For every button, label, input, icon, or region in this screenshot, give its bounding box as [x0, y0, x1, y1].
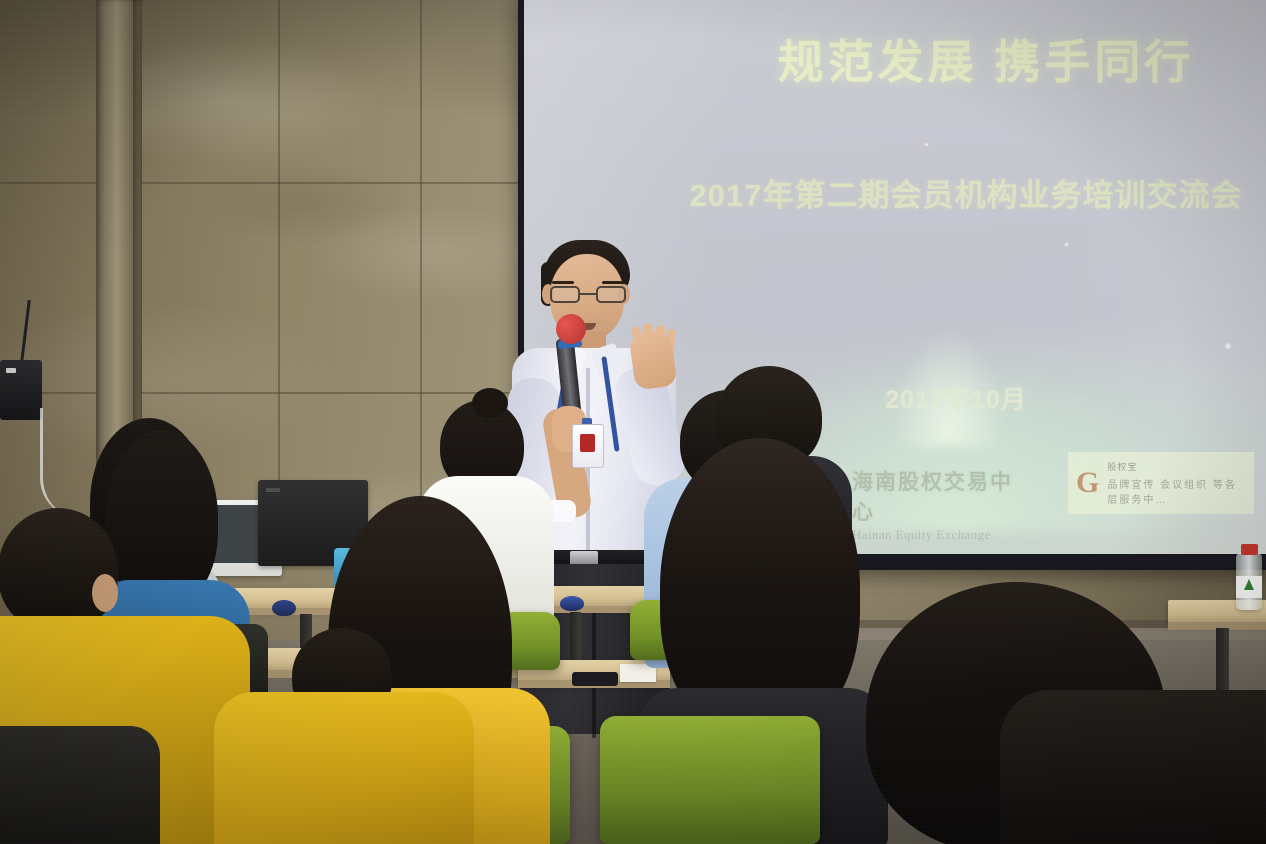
speaker-eyebrow-left: [552, 281, 574, 284]
attendee-hair-bun: [472, 388, 508, 418]
chair: [600, 716, 820, 844]
bottle-cap: [1241, 544, 1258, 555]
organizer-logo: 海南股权交易中心 Hainan Equity Exchange: [852, 466, 1022, 543]
phone: [572, 672, 618, 686]
slide-sparkle: [1064, 242, 1069, 247]
wall-tile-seam: [278, 0, 280, 560]
slide-sparkle: [1224, 342, 1232, 350]
glasses-icon: [550, 286, 626, 304]
glasses-lens-right: [596, 286, 626, 303]
device-led: [6, 368, 16, 373]
slide-title: 规范发展 携手同行: [524, 26, 1266, 92]
badge-emblem: [580, 434, 595, 452]
slide-sparkle: [924, 142, 929, 147]
glasses-bridge: [580, 293, 596, 295]
glasses-lens-left: [550, 286, 580, 303]
partner-logo-line1: 股权宝: [1107, 460, 1246, 473]
attendee-shoulder-right: [1000, 690, 1266, 844]
slide-subtitle: 2017年第二期会员机构业务培训交流会: [524, 170, 1266, 215]
partner-logo-text: 股权宝 品牌宣传 会议组织 等各层服务中…: [1107, 460, 1246, 506]
attendee-ear: [92, 574, 118, 612]
attendee-shirt: [214, 692, 474, 844]
speaker-eyebrow-right: [602, 281, 624, 284]
mouse: [560, 596, 584, 611]
organizer-logo-cn: 海南股权交易中心: [852, 466, 1022, 526]
laptop-logo: [266, 488, 280, 492]
attendee-hair: [0, 508, 118, 632]
photo-scene: 规范发展 携手同行 2017年第二期会员机构业务培训交流会 2017年10月 海…: [0, 0, 1266, 844]
partner-logo: G 股权宝 品牌宣传 会议组织 等各层服务中…: [1068, 452, 1254, 514]
organizer-logo-en: Hainan Equity Exchange: [852, 527, 1022, 543]
attendee-shoulder-left: [0, 726, 160, 844]
mouse: [272, 600, 296, 616]
bottle-label: [1236, 576, 1262, 598]
wall-tile-seam: [420, 0, 422, 560]
partner-logo-line2: 品牌宣传 会议组织 等各层服务中…: [1107, 476, 1246, 506]
partner-logo-mark: G: [1076, 468, 1099, 498]
